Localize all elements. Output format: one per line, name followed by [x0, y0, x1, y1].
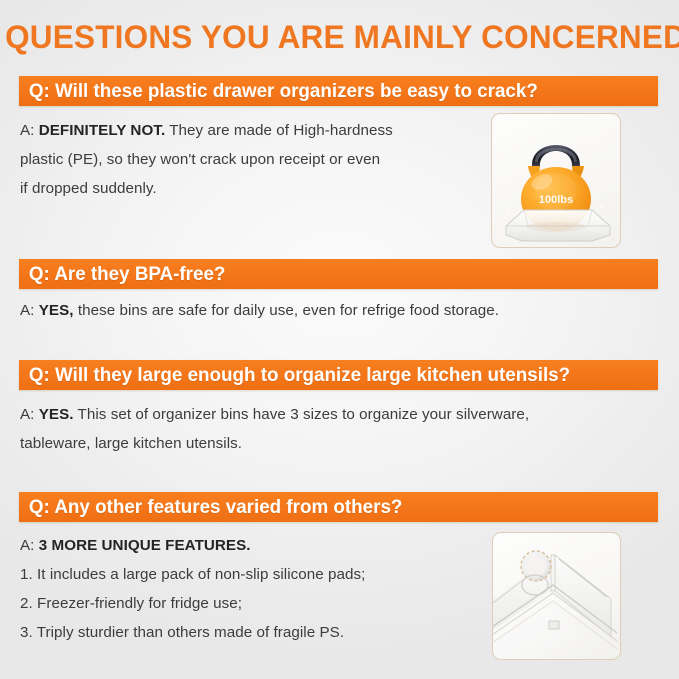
answer-line-2-1: these bins are safe for daily use, even …: [78, 302, 499, 319]
answer-bold-3: YES.: [39, 406, 74, 423]
answer-block-4: A: 3 MORE UNIQUE FEATURES. 1. It include…: [20, 531, 480, 647]
answer-block-3: A: YES. This set of organizer bins have …: [20, 400, 660, 458]
answer-bold-1: DEFINITELY NOT.: [39, 122, 166, 139]
feature-item-2: 2. Freezer-friendly for fridge use;: [20, 589, 480, 618]
feature-item-1: 1. It includes a large pack of non-slip …: [20, 560, 480, 589]
answer-line-3-2: tableware, large kitchen utensils.: [20, 429, 660, 458]
question-bar-2: Q: Are they BPA-free?: [19, 259, 658, 289]
answer-bold-4: 3 MORE UNIQUE FEATURES.: [39, 537, 251, 554]
question-text-1: Q: Will these plastic drawer organizers …: [19, 82, 538, 101]
kettlebell-weight-label: 100lbs: [539, 194, 573, 206]
answer-prefix-1: A:: [20, 122, 34, 139]
page-title: QUESTIONS YOU ARE MAINLY CONCERNED: [5, 17, 674, 57]
answer-prefix-2: A:: [20, 302, 34, 319]
bin-corner-silicone-pad-image: [492, 532, 621, 660]
answer-line-1-2: plastic (PE), so they won't crack upon r…: [20, 145, 470, 174]
answer-prefix-4: A:: [20, 537, 34, 554]
kettlebell-on-tray-image: 100lbs: [491, 113, 621, 248]
question-text-2: Q: Are they BPA-free?: [19, 265, 225, 284]
feature-item-3: 3. Triply sturdier than others made of f…: [20, 618, 480, 647]
faq-infographic: QUESTIONS YOU ARE MAINLY CONCERNED Q: Wi…: [0, 0, 679, 679]
question-text-3: Q: Will they large enough to organize la…: [19, 366, 570, 385]
kettlebell-illustration: 100lbs: [492, 114, 620, 247]
answer-line-1-1: They are made of High-hardness: [169, 122, 393, 139]
answer-block-1: A: DEFINITELY NOT. They are made of High…: [20, 116, 470, 203]
question-text-4: Q: Any other features varied from others…: [19, 498, 402, 517]
question-bar-1: Q: Will these plastic drawer organizers …: [19, 76, 658, 106]
bin-corner-illustration: [493, 533, 620, 659]
question-bar-3: Q: Will they large enough to organize la…: [19, 360, 658, 390]
answer-line-1-3: if dropped suddenly.: [20, 174, 470, 203]
answer-prefix-3: A:: [20, 406, 34, 423]
answer-line-3-1: This set of organizer bins have 3 sizes …: [78, 406, 530, 423]
question-bar-4: Q: Any other features varied from others…: [19, 492, 658, 522]
answer-bold-2: YES,: [39, 302, 74, 319]
answer-block-2: A: YES, these bins are safe for daily us…: [20, 296, 660, 325]
